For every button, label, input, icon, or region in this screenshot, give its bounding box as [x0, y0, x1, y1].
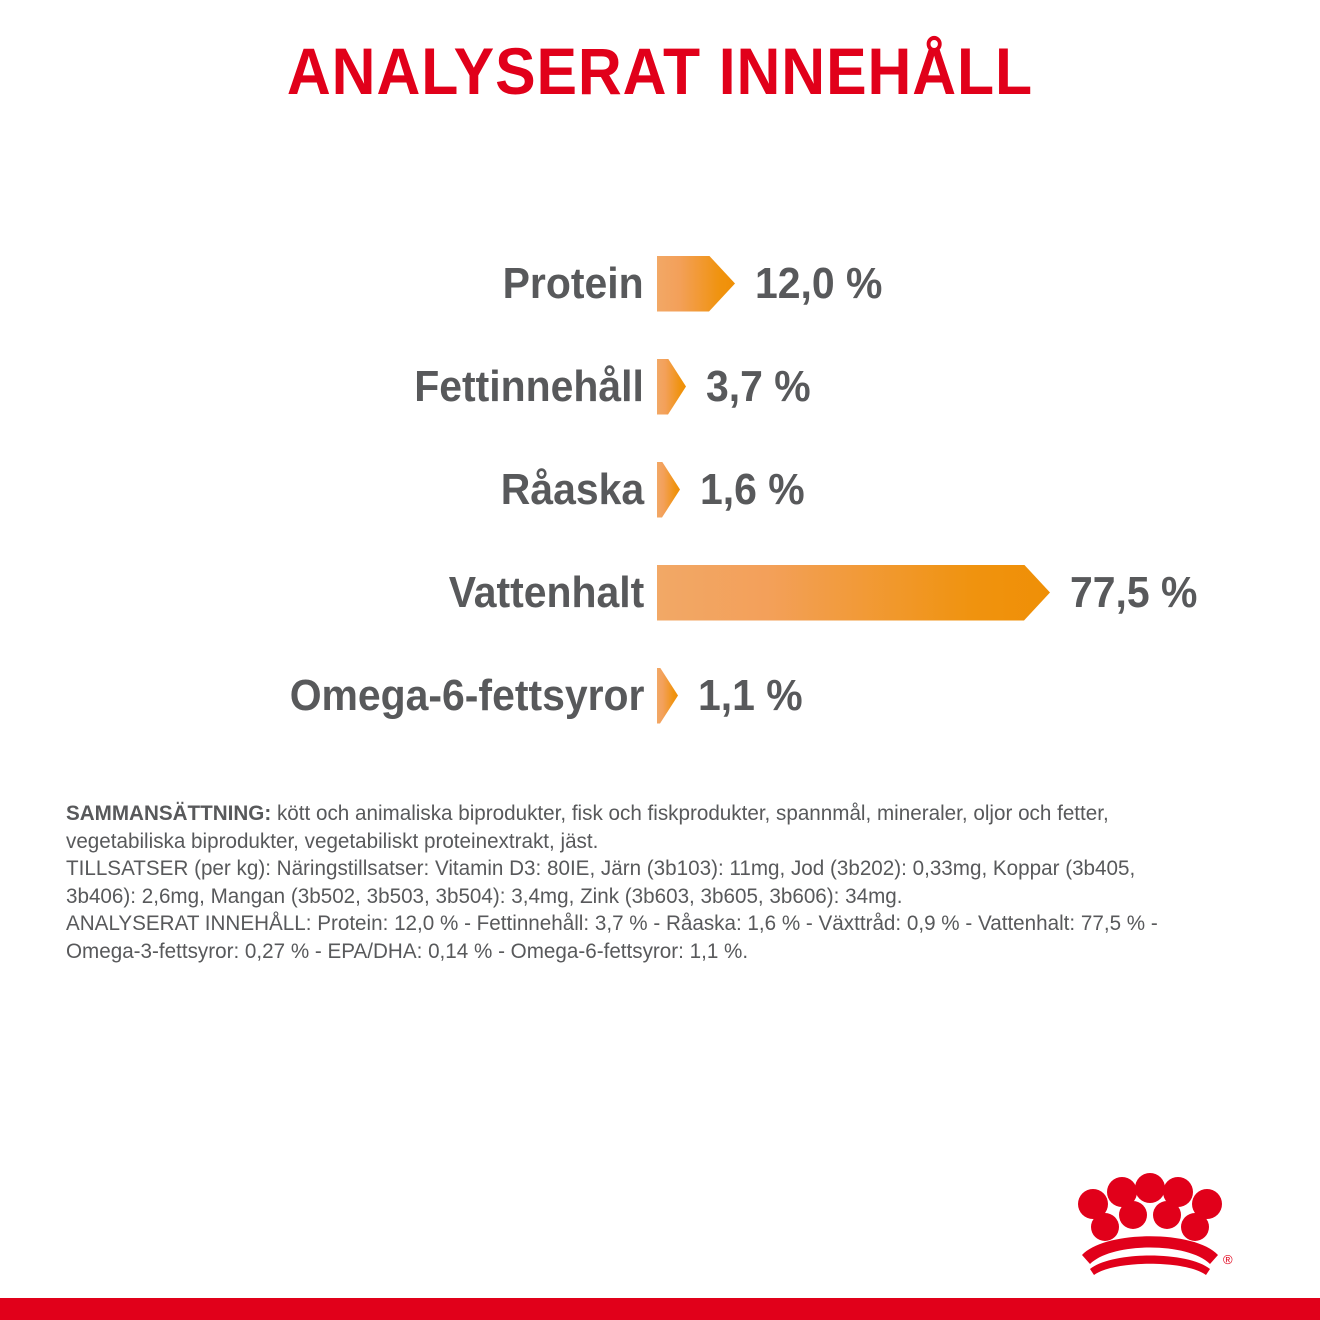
analysis-paragraph: ANALYSERAT INNEHÅLL: Protein: 12,0 % - F… — [66, 910, 1208, 965]
composition-paragraph: SAMMANSÄTTNING: kött och animaliska bipr… — [66, 800, 1208, 855]
registered-trademark-mark: ® — [1223, 1252, 1233, 1267]
analytical-constituents-chart: Protein12,0 %Fettinnehåll3,7 %Råaska1,6 … — [0, 232, 1320, 747]
nutrient-label: Fettinnehåll — [414, 365, 644, 409]
nutrient-label: Vattenhalt — [448, 571, 644, 615]
nutrient-bar-fill — [657, 256, 735, 312]
nutrient-value: 1,6 % — [700, 468, 805, 512]
nutrient-bar — [657, 668, 678, 724]
nutrient-bar — [657, 462, 680, 518]
nutrient-row: Råaska1,6 % — [0, 438, 1320, 541]
nutrient-row: Vattenhalt77,5 % — [0, 541, 1320, 644]
nutrient-bar-fill — [657, 668, 678, 724]
nutrient-bar-fill — [657, 462, 680, 518]
nutrient-bar — [657, 359, 686, 415]
nutrient-bar-fill — [657, 359, 686, 415]
nutrient-value: 1,1 % — [698, 674, 803, 718]
additives-paragraph: TILLSATSER (per kg): Näringstillsatser: … — [66, 855, 1208, 910]
nutrient-row: Omega-6-fettsyror1,1 % — [0, 644, 1320, 747]
nutrient-label: Omega-6-fettsyror — [289, 674, 644, 718]
nutrient-bar-fill — [657, 565, 1050, 621]
nutrient-row: Fettinnehåll3,7 % — [0, 335, 1320, 438]
page-title: ANALYSERAT INNEHÅLL — [53, 38, 1267, 104]
nutrient-value: 77,5 % — [1070, 571, 1197, 615]
composition-heading: SAMMANSÄTTNING: — [66, 801, 271, 825]
bottom-red-bar — [0, 1298, 1320, 1320]
composition-text-block: SAMMANSÄTTNING: kött och animaliska bipr… — [66, 800, 1208, 965]
nutrient-value: 3,7 % — [706, 365, 811, 409]
nutrient-value: 12,0 % — [755, 262, 882, 306]
nutrient-row: Protein12,0 % — [0, 232, 1320, 335]
nutrient-bar — [657, 565, 1050, 621]
nutrient-label: Protein — [503, 262, 644, 306]
nutrient-bar — [657, 256, 735, 312]
royal-canin-crown-logo: ® — [1060, 1172, 1240, 1277]
nutrient-label: Råaska — [501, 468, 644, 512]
